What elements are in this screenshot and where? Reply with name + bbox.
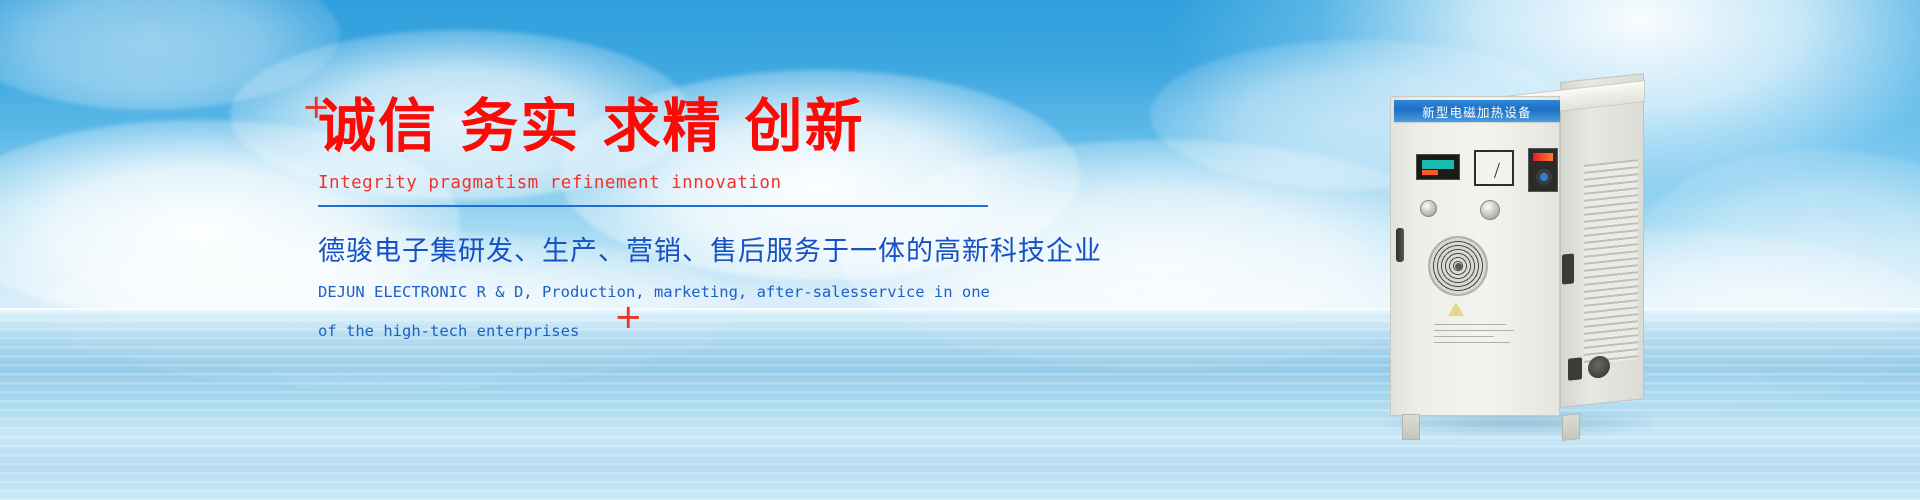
analog-meter-icon xyxy=(1474,150,1514,186)
hero-banner: + + 诚信 务实 求精 创新 Integrity pragmatism ref… xyxy=(0,0,1920,500)
headline-english: Integrity pragmatism refinement innovati… xyxy=(318,173,1018,193)
subline-chinese: 德骏电子集研发、生产、营销、售后服务于一体的高新科技企业 xyxy=(318,229,1018,268)
ventilation-louvers-icon xyxy=(1584,159,1638,365)
machine-label: 新型电磁加热设备 xyxy=(1394,100,1560,122)
divider-rule xyxy=(318,205,988,207)
cable-port-icon xyxy=(1568,357,1582,380)
machine-leg xyxy=(1562,413,1580,441)
selector-knob-icon xyxy=(1420,200,1437,217)
door-handle-icon xyxy=(1396,228,1404,262)
headline-chinese: 诚信 务实 求精 创新 xyxy=(318,96,1018,157)
subline-english-line1: DEJUN ELECTRONIC R & D, Production, mark… xyxy=(318,278,1018,307)
product-machine-image: 新型电磁加热设备 xyxy=(1376,58,1676,448)
control-keypad-icon xyxy=(1528,148,1558,192)
cooling-fan-grille-icon xyxy=(1428,236,1488,296)
side-latch-icon xyxy=(1562,253,1574,284)
machine-spec-text xyxy=(1434,324,1520,360)
warning-triangle-icon xyxy=(1448,302,1464,316)
subline-english-line2: of the high-tech enterprises xyxy=(318,317,1018,346)
machine-leg xyxy=(1402,414,1420,440)
rotary-knob-icon xyxy=(1480,200,1500,220)
digital-readout-icon xyxy=(1416,154,1460,180)
banner-copy: 诚信 务实 求精 创新 Integrity pragmatism refinem… xyxy=(318,96,1018,345)
